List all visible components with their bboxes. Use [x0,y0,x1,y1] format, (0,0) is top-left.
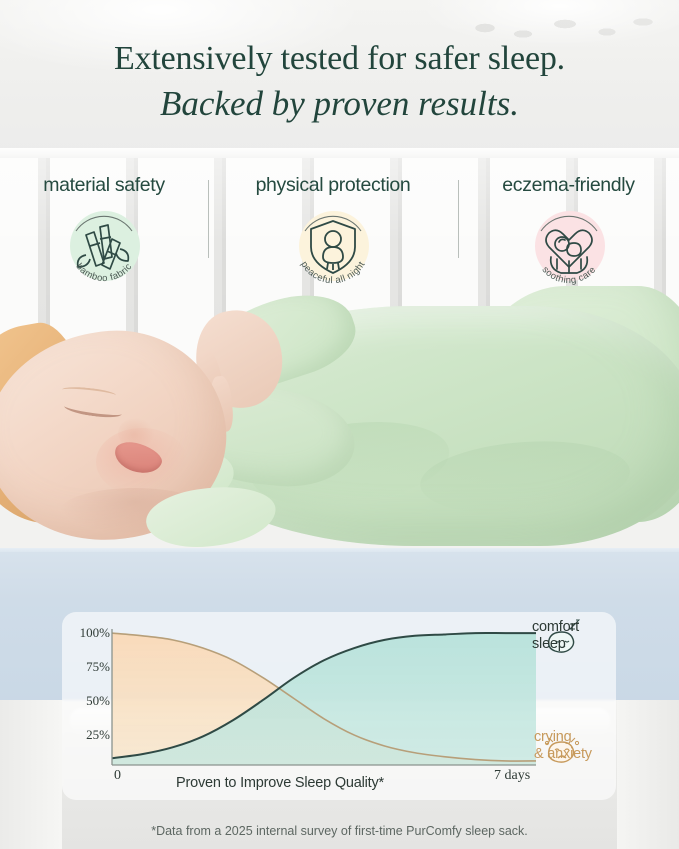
feature-label: material safety [0,174,208,197]
legend-line-2: & anxiety [534,746,592,763]
chart-footnote: *Data from a 2025 internal survey of fir… [0,824,679,838]
feature-label: eczema-friendly [458,174,679,197]
shield-baby-icon: peaceful all night [285,201,381,297]
feature-eczema-friendly: eczema-friendly soothing care soothing [458,174,679,297]
chart-title: Proven to Improve Sleep Quality* [100,775,460,791]
y-tick-25: 25% [66,727,110,743]
legend-line-2: sleep [532,636,579,653]
feature-divider [208,180,209,258]
legend-crying-anxiety: crying & anxiety [534,729,592,763]
badge-bamboo-fabric: bamboo fabric bamboo fabric [56,201,152,297]
sleeping-baby [0,292,679,560]
heart-baby-in-hands-icon: soothing care [521,201,617,297]
y-tick-100: 100% [66,625,110,641]
legend-comfort-sleep: comfort sleep [532,619,579,653]
legend-line-1: comfort [532,619,579,636]
badge-peaceful-all-night: peaceful all night peaceful all night [285,201,381,297]
headline-line-2: Backed by proven results. [0,86,679,121]
bamboo-stalks-icon: bamboo fabric [56,201,152,297]
x-tick-end: 7 days [494,768,530,784]
y-tick-50: 50% [66,693,110,709]
feature-physical-protection: physical protection peaceful all night p… [208,174,458,297]
legend-line-1: crying [534,729,592,746]
badge-arc-text: bamboo fabric [74,261,135,284]
headline-line-1: Extensively tested for safer sleep. [0,42,679,76]
feature-divider [458,180,459,258]
y-tick-75: 75% [66,659,110,675]
page-title: Extensively tested for safer sleep. Back… [0,42,679,121]
feature-label: physical protection [208,174,458,197]
feature-badge-row: material safety bamboo fabric [0,174,679,294]
feature-material-safety: material safety bamboo fabric [0,174,208,297]
badge-soothing-care: soothing care soothing care [521,201,617,297]
